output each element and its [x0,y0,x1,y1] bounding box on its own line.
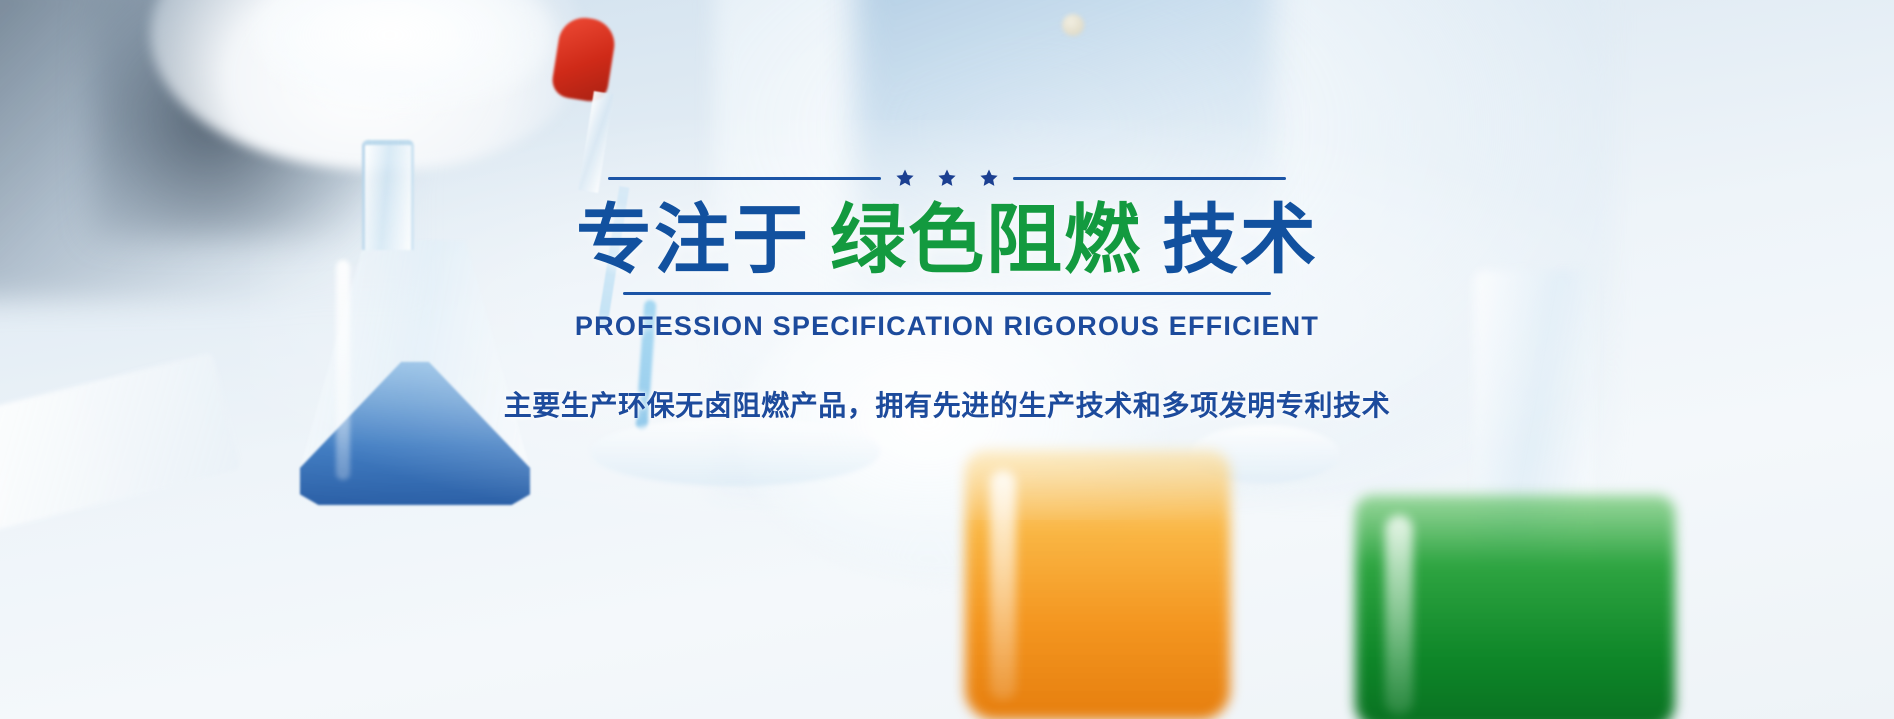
headline-underline [623,292,1271,295]
headline-part-2: 绿色阻燃 [830,198,1142,283]
headline-part-3: 技术 [1162,198,1318,283]
hero-banner: 专注于绿色阻燃技术 PROFESSION SPECIFICATION RIGOR… [0,0,1894,719]
banner-subtitle: PROFESSION SPECIFICATION RIGOROUS EFFICI… [575,311,1319,342]
green-beaker-highlight [1385,515,1413,715]
star-icon [937,168,957,188]
banner-headline: 专注于绿色阻燃技术 [576,202,1318,280]
decorative-divider [608,168,1286,188]
star-icon [895,168,915,188]
divider-rule-left [608,177,881,180]
star-group [895,168,999,188]
banner-description: 主要生产环保无卤阻燃产品，拥有先进的生产技术和多项发明专利技术 [504,384,1391,424]
headline-part-1: 专注于 [576,198,810,283]
star-icon [979,168,999,188]
banner-content: 专注于绿色阻燃技术 PROFESSION SPECIFICATION RIGOR… [0,168,1894,424]
divider-rule-right [1013,177,1286,180]
shirt-button [1062,14,1084,36]
